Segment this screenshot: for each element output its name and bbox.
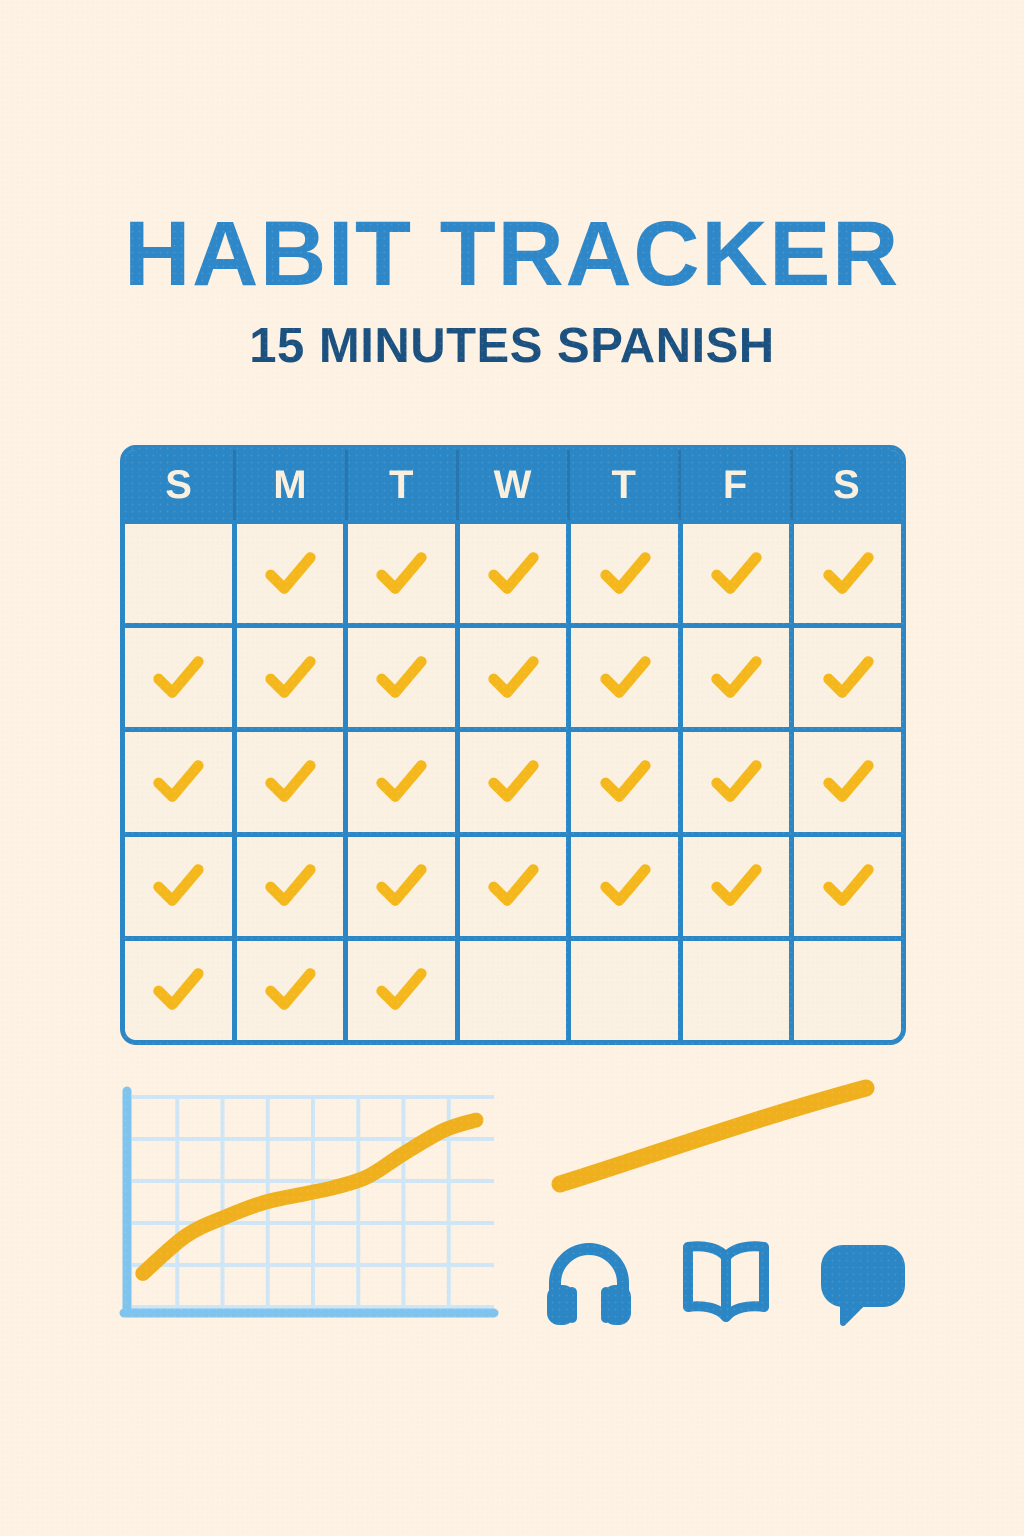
check-icon <box>149 961 207 1019</box>
check-icon <box>149 649 207 707</box>
check-icon <box>372 753 430 811</box>
day-cell-w4-d1[interactable] <box>125 837 237 936</box>
day-header-4: T <box>570 450 681 520</box>
day-cell-w1-d6[interactable] <box>683 524 795 623</box>
day-cell-w4-d4[interactable] <box>460 837 572 936</box>
check-icon <box>596 649 654 707</box>
day-cell-w2-d2[interactable] <box>237 628 349 727</box>
check-icon <box>372 545 430 603</box>
tracker-row <box>125 520 901 623</box>
check-icon <box>596 857 654 915</box>
check-icon <box>819 857 877 915</box>
check-icon <box>484 753 542 811</box>
day-cell-w4-d2[interactable] <box>237 837 349 936</box>
page-subtitle: 15 MINUTES SPANISH <box>0 322 1024 371</box>
check-icon <box>372 649 430 707</box>
check-icon <box>149 857 207 915</box>
day-cell-w5-d7[interactable] <box>794 941 901 1040</box>
skill-icon-row <box>536 1228 916 1334</box>
day-cell-w1-d7[interactable] <box>794 524 901 623</box>
check-icon <box>261 857 319 915</box>
day-header-5: F <box>681 450 792 520</box>
day-cell-w4-d5[interactable] <box>571 837 683 936</box>
day-cell-w1-d4[interactable] <box>460 524 572 623</box>
check-icon <box>707 649 765 707</box>
day-cell-w2-d7[interactable] <box>794 628 901 727</box>
open-book-icon <box>673 1228 779 1334</box>
check-icon <box>149 753 207 811</box>
check-icon <box>261 649 319 707</box>
day-cell-w4-d3[interactable] <box>348 837 460 936</box>
check-icon <box>819 753 877 811</box>
day-header-2: T <box>348 450 459 520</box>
day-cell-w1-d5[interactable] <box>571 524 683 623</box>
check-icon <box>484 545 542 603</box>
day-header-6: S <box>793 450 901 520</box>
poster-canvas: HABIT TRACKER 15 MINUTES SPANISH SMTWTFS <box>0 0 1024 1536</box>
day-cell-w1-d2[interactable] <box>237 524 349 623</box>
day-header-0: S <box>125 450 236 520</box>
habit-tracker-grid: SMTWTFS <box>120 445 906 1045</box>
day-cell-w2-d3[interactable] <box>348 628 460 727</box>
tracker-row <box>125 832 901 936</box>
check-icon <box>707 545 765 603</box>
day-cell-w5-d5[interactable] <box>571 941 683 1040</box>
day-cell-w3-d2[interactable] <box>237 732 349 831</box>
day-cell-w5-d4[interactable] <box>460 941 572 1040</box>
tracker-row <box>125 936 901 1040</box>
day-cell-w4-d6[interactable] <box>683 837 795 936</box>
day-cell-w5-d2[interactable] <box>237 941 349 1040</box>
day-cell-w3-d4[interactable] <box>460 732 572 831</box>
tracker-body <box>125 520 901 1040</box>
progress-chart-svg <box>118 1085 500 1325</box>
check-icon <box>819 545 877 603</box>
check-icon <box>372 961 430 1019</box>
day-cell-w2-d1[interactable] <box>125 628 237 727</box>
check-icon <box>707 857 765 915</box>
day-cell-w1-d3[interactable] <box>348 524 460 623</box>
day-cell-w3-d1[interactable] <box>125 732 237 831</box>
check-icon <box>261 545 319 603</box>
tracker-row <box>125 727 901 831</box>
day-cell-w5-d6[interactable] <box>683 941 795 1040</box>
check-icon <box>484 649 542 707</box>
day-cell-w3-d5[interactable] <box>571 732 683 831</box>
check-icon <box>596 545 654 603</box>
day-cell-w4-d7[interactable] <box>794 837 901 936</box>
tracker-row <box>125 623 901 727</box>
title-block: HABIT TRACKER 15 MINUTES SPANISH <box>0 208 1024 371</box>
day-cell-w2-d4[interactable] <box>460 628 572 727</box>
check-icon <box>819 649 877 707</box>
day-cell-w1-d1[interactable] <box>125 524 237 623</box>
day-cell-w5-d1[interactable] <box>125 941 237 1040</box>
page-title: HABIT TRACKER <box>0 208 1024 300</box>
day-header-1: M <box>236 450 347 520</box>
tracker-header-row: SMTWTFS <box>125 450 901 520</box>
headphones-icon <box>536 1228 642 1334</box>
check-icon <box>261 961 319 1019</box>
trend-stroke <box>560 1088 866 1184</box>
chart-progress-line <box>143 1120 476 1273</box>
check-icon <box>707 753 765 811</box>
check-icon <box>261 753 319 811</box>
check-icon <box>596 753 654 811</box>
progress-line-chart <box>118 1085 500 1325</box>
day-cell-w2-d6[interactable] <box>683 628 795 727</box>
speech-bubble-icon <box>810 1228 916 1334</box>
upward-trend-line <box>548 1072 878 1202</box>
check-icon <box>372 857 430 915</box>
day-cell-w2-d5[interactable] <box>571 628 683 727</box>
trend-line-svg <box>548 1072 878 1202</box>
check-icon <box>484 857 542 915</box>
day-cell-w3-d3[interactable] <box>348 732 460 831</box>
day-cell-w5-d3[interactable] <box>348 941 460 1040</box>
day-cell-w3-d7[interactable] <box>794 732 901 831</box>
day-header-3: W <box>459 450 570 520</box>
day-cell-w3-d6[interactable] <box>683 732 795 831</box>
